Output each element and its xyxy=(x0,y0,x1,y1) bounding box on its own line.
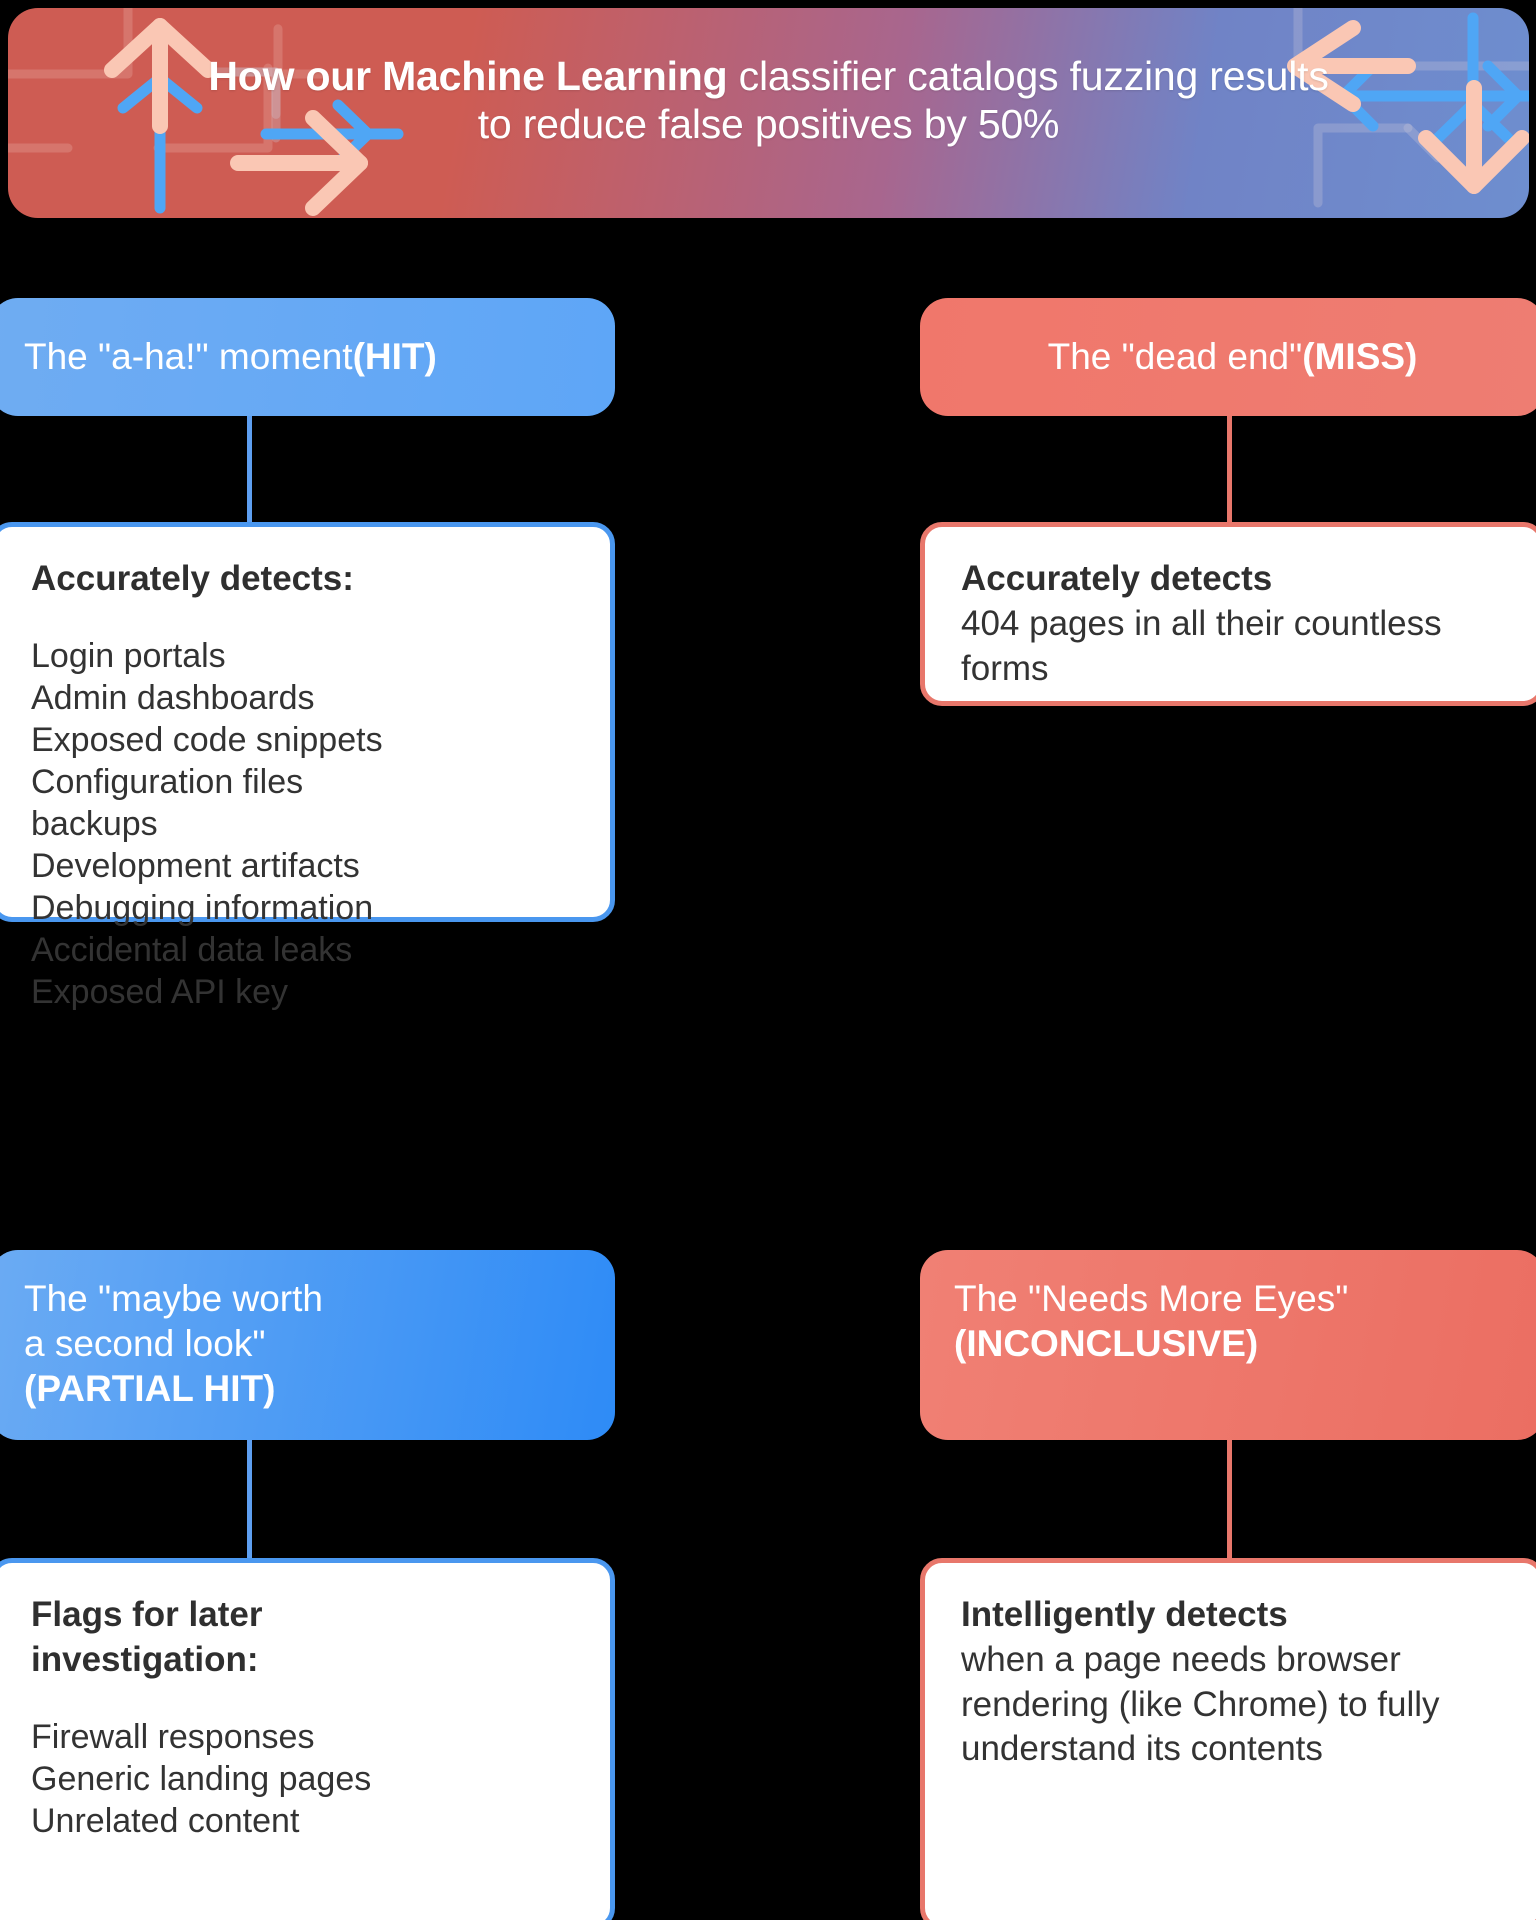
list-item: Generic landing pages xyxy=(31,1759,576,1801)
list-item: backups xyxy=(31,804,576,846)
list-item: Unrelated content xyxy=(31,1801,576,1843)
list-item: Exposed code snippets xyxy=(31,720,576,762)
banner-title-bold: How our Machine Learning xyxy=(208,53,727,99)
infographic-root: How our Machine Learning classifier cata… xyxy=(0,0,1536,1920)
banner-title: How our Machine Learning classifier cata… xyxy=(8,52,1529,149)
pill-inconclusive-badge: (INCONCLUSIVE) xyxy=(954,1321,1511,1366)
card-miss-title: Accurately detects xyxy=(961,559,1272,598)
list-item: Configuration files xyxy=(31,762,576,804)
list-item: Firewall responses xyxy=(31,1717,576,1759)
list-item: Debugging information xyxy=(31,888,576,930)
header-pill-partial-hit[interactable]: The "maybe worth a second look" (PARTIAL… xyxy=(0,1250,615,1440)
card-miss-lead: 404 pages in all their countless forms xyxy=(961,602,1506,692)
card-inconclusive: Intelligently detects when a page needs … xyxy=(920,1558,1536,1920)
list-item: Admin dashboards xyxy=(31,678,576,720)
card-partial-title: Flags for later investigation: xyxy=(31,1593,411,1683)
list-item: Accidental data leaks xyxy=(31,930,576,972)
pill-miss-label: The "dead end" xyxy=(1048,334,1303,379)
pill-partial-badge: (PARTIAL HIT) xyxy=(24,1366,581,1411)
card-inconclusive-title: Intelligently detects xyxy=(961,1595,1288,1634)
card-inconclusive-lead: when a page needs browser rendering (lik… xyxy=(961,1638,1506,1772)
pill-inconclusive-line1: The "Needs More Eyes" xyxy=(954,1276,1511,1321)
pill-hit-badge: (HIT) xyxy=(353,334,437,379)
connector-miss xyxy=(1227,416,1232,524)
card-miss: Accurately detects 404 pages in all thei… xyxy=(920,522,1536,706)
pill-partial-line1: The "maybe worth xyxy=(24,1276,581,1321)
connector-partial-hit xyxy=(247,1440,252,1560)
header-banner: How our Machine Learning classifier cata… xyxy=(8,8,1529,218)
card-hit-title: Accurately detects: xyxy=(31,557,576,602)
header-pill-miss[interactable]: The "dead end" (MISS) xyxy=(920,298,1536,416)
list-item: Development artifacts xyxy=(31,846,576,888)
list-item: Exposed API key xyxy=(31,972,576,1014)
card-partial-list: Firewall responses Generic landing pages… xyxy=(31,1717,576,1843)
pill-hit-label: The "a-ha!" moment xyxy=(24,334,353,379)
header-pill-hit[interactable]: The "a-ha!" moment (HIT) xyxy=(0,298,615,416)
connector-hit xyxy=(247,416,252,524)
card-partial-hit: Flags for later investigation: Firewall … xyxy=(0,1558,615,1920)
card-hit-list: Login portals Admin dashboards Exposed c… xyxy=(31,636,576,1014)
list-item: Login portals xyxy=(31,636,576,678)
connector-inconclusive xyxy=(1227,1440,1232,1560)
header-pill-inconclusive[interactable]: The "Needs More Eyes" (INCONCLUSIVE) xyxy=(920,1250,1536,1440)
pill-partial-line2: a second look" xyxy=(24,1321,581,1366)
card-hit: Accurately detects: Login portals Admin … xyxy=(0,522,615,922)
pill-miss-badge: (MISS) xyxy=(1302,334,1417,379)
